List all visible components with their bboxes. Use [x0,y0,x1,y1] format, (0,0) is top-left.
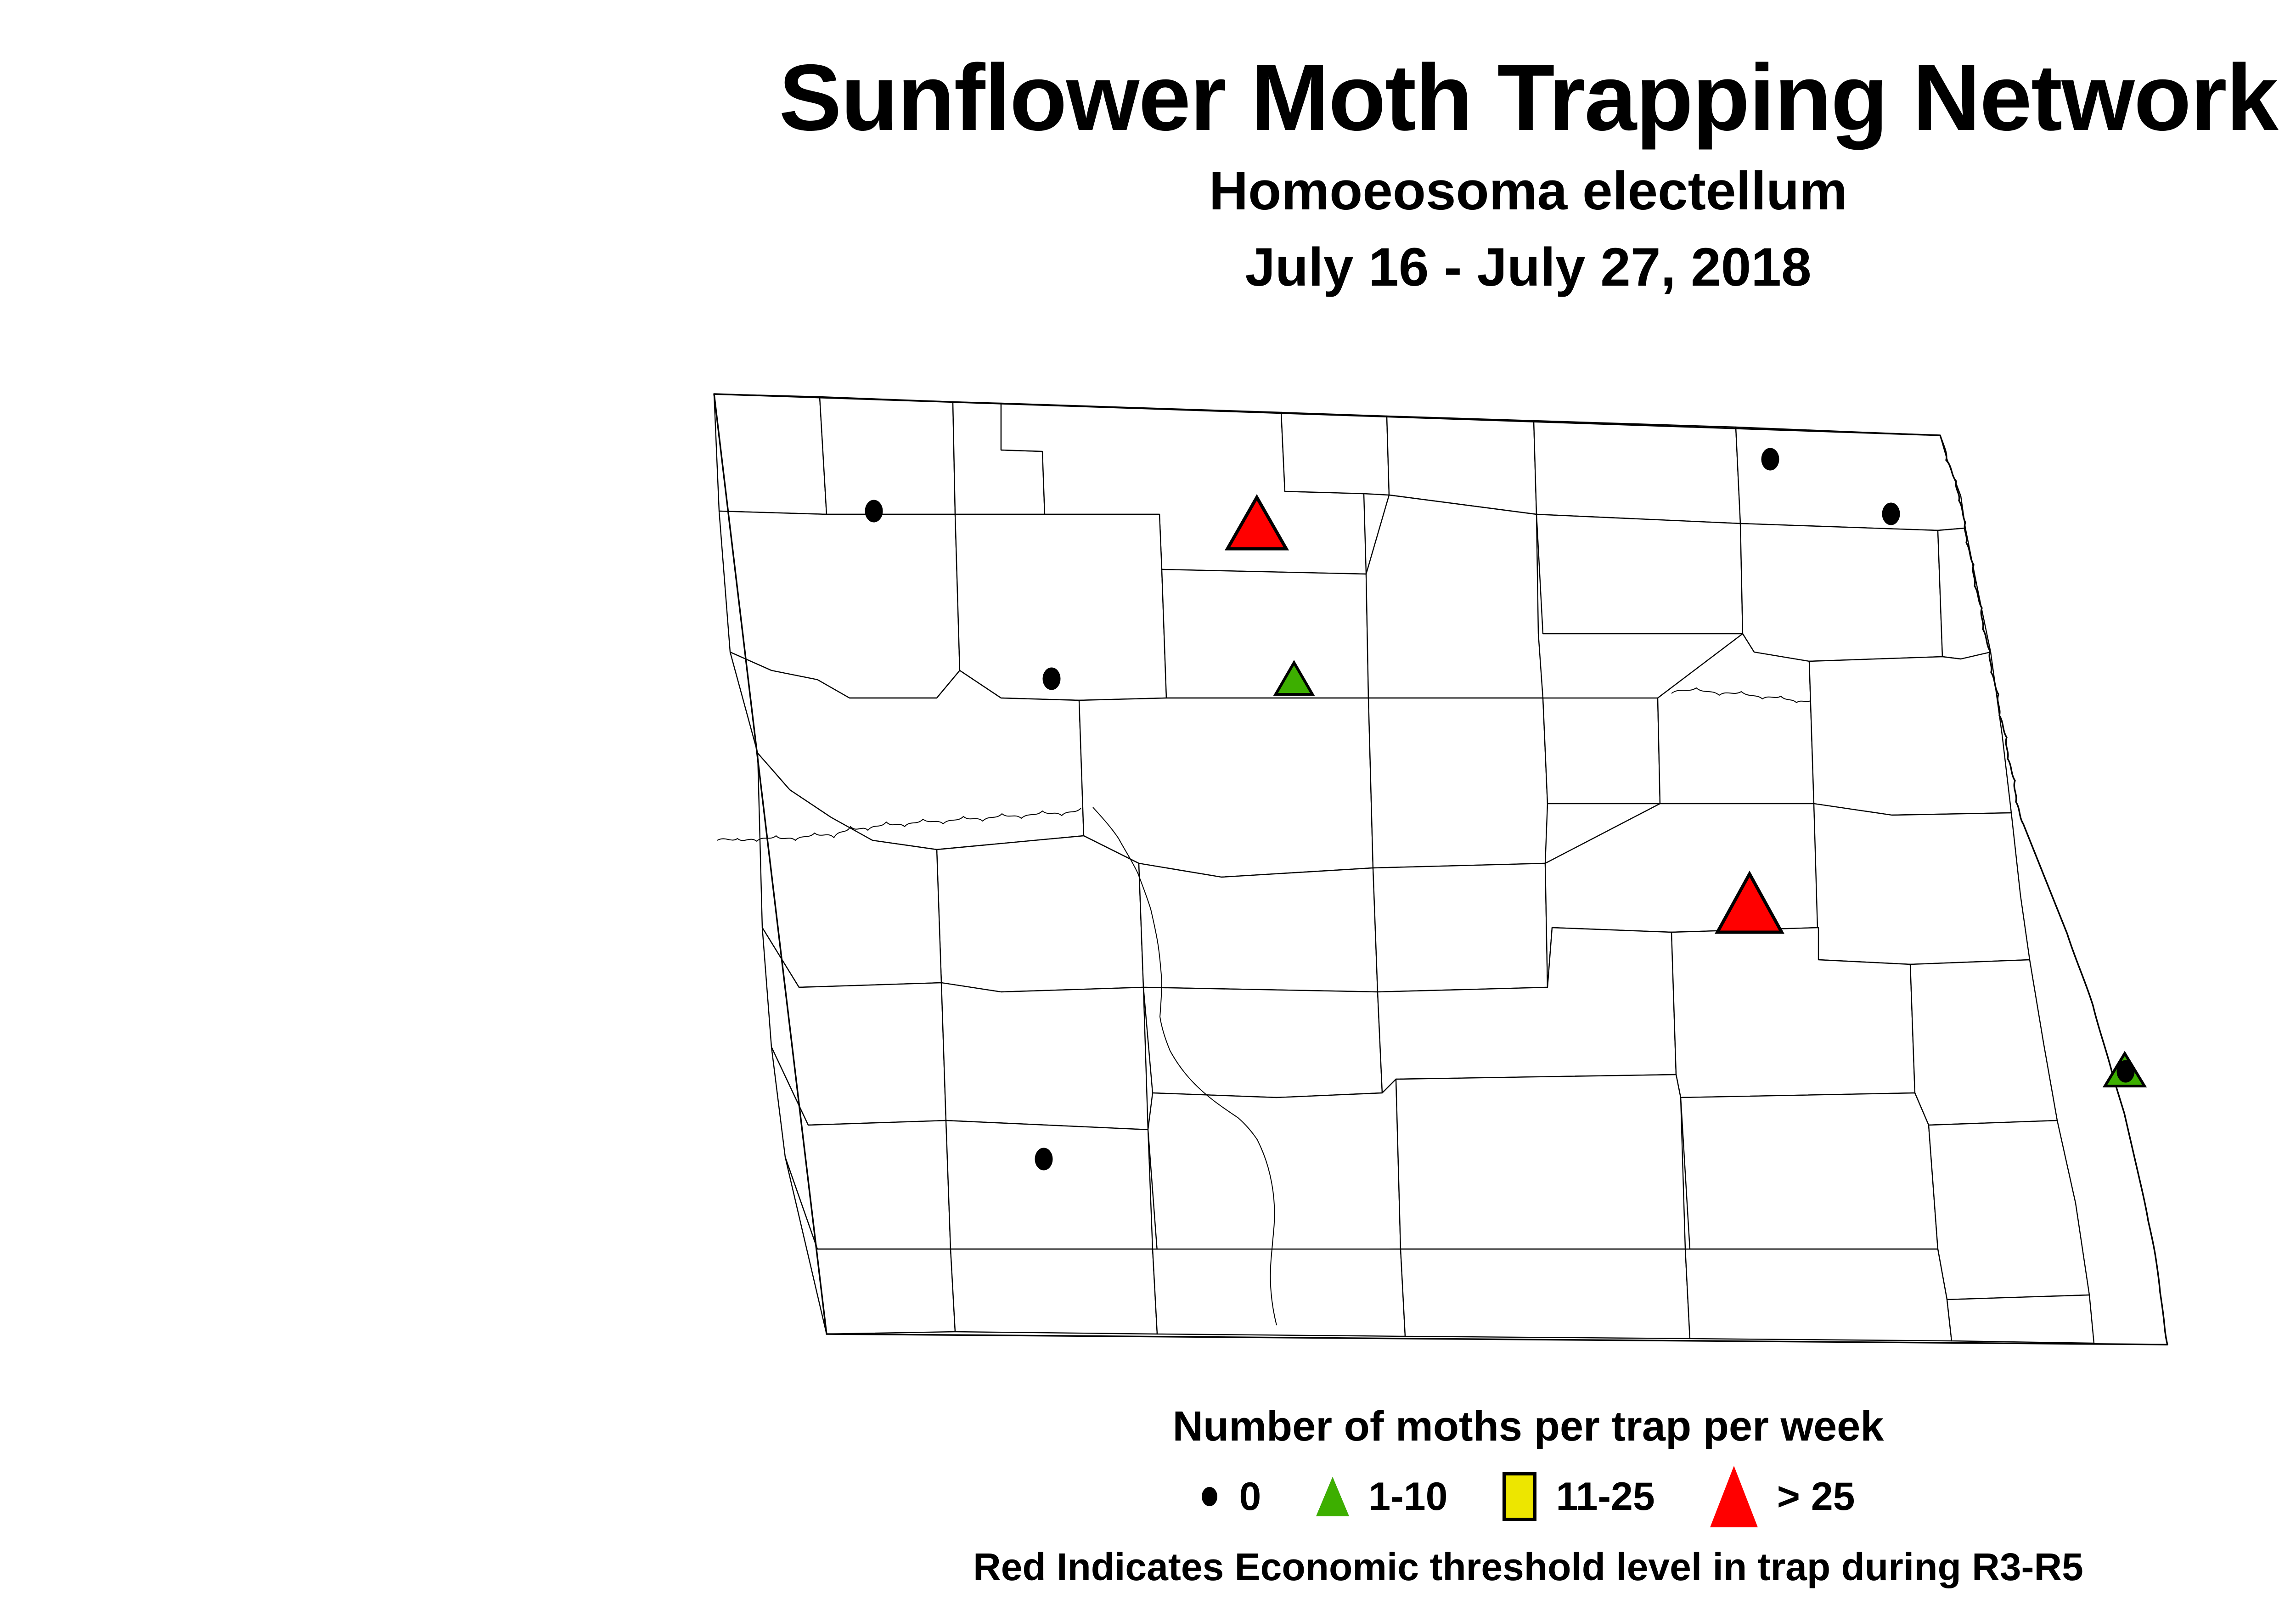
county-burke [820,397,955,514]
trap-marker-dot-0-north-east[interactable] [1882,503,1900,525]
north-dakota-map [680,377,2296,1355]
county-oliver [1143,987,1382,1098]
county-mclean [1079,698,1373,877]
legend-item-zero: 0 [1202,1477,1261,1516]
county-ward [1162,569,1368,698]
county-barnes [1681,1093,1938,1249]
species-name: Homoeosoma electellum [0,164,2296,218]
date-range: July 16 - July 27, 2018 [0,240,2296,294]
county-cavalier [1534,421,1740,524]
legend-title: Number of moths per trap per week [0,1405,2296,1447]
county-mountrail [955,514,1166,700]
county-stark [941,983,1148,1130]
county-dickey [1685,1249,1952,1341]
county-ramsey [1740,524,1942,661]
county-traill [1814,804,2030,964]
trap-marker-dot-0-north-central[interactable] [1761,448,1779,470]
legend-label-over-twentyfive: > 25 [1777,1477,1855,1516]
county-mchenry [1366,495,1543,698]
nd-county-svg [680,377,2296,1355]
county-hettinger [946,1120,1153,1249]
trap-marker-dot-0-southeast[interactable] [2117,1060,2134,1082]
county-sargent [1947,1295,2094,1343]
county-rolette [1281,412,1389,495]
county-nelson [1658,634,1814,804]
legend-note: Red Indicates Economic threshold level i… [0,1548,2296,1586]
legend-label-one-to-ten: 1-10 [1368,1477,1447,1516]
county-adams [951,1249,1157,1334]
legend-label-zero: 0 [1239,1477,1261,1516]
title-block: Sunflower Moth Trapping Network Homoeoso… [0,0,2296,294]
county-pierce [1536,514,1743,634]
legend-label-eleven-to-twentyfive: 11-25 [1556,1477,1654,1516]
triangle-green-icon [1316,1477,1349,1516]
county-divide [714,394,827,514]
county-wells [1373,863,1548,992]
legend-item-eleven-to-twentyfive: 11-25 [1503,1472,1654,1521]
county-cass [1910,960,2057,1125]
trap-marker-dot-0-northwest[interactable] [865,500,883,522]
page-title: Sunflower Moth Trapping Network [0,51,2296,145]
county-pembina [1736,427,1965,530]
legend-item-over-twentyfive: > 25 [1710,1466,1855,1527]
county-eddy [1543,698,1660,804]
county-logan [1396,1075,1685,1249]
map-page: Sunflower Moth Trapping Network Homoeoso… [0,0,2296,1610]
county-benson [1368,698,1548,868]
county-sioux [1153,1249,1405,1336]
dot-icon [1202,1487,1217,1506]
county-grandforks [1809,652,2011,815]
legend-items: 0 1-10 11-25 > 25 [0,1466,2296,1527]
legend-item-one-to-ten: 1-10 [1316,1477,1447,1516]
legend: Number of moths per trap per week 0 1-10… [0,1405,2296,1586]
county-walsh [1938,528,1991,659]
square-yellow-icon [1503,1472,1536,1521]
trap-marker-dot-0-southwest[interactable] [1035,1148,1052,1170]
county-layer [714,394,2094,1343]
county-emmons [1401,1249,1690,1339]
triangle-red-icon [1710,1466,1758,1527]
county-richland [1929,1120,2089,1300]
county-mercer [1139,863,1378,992]
trap-marker-dot-0-west-central[interactable] [1043,668,1060,690]
county-dunn [937,836,1143,992]
